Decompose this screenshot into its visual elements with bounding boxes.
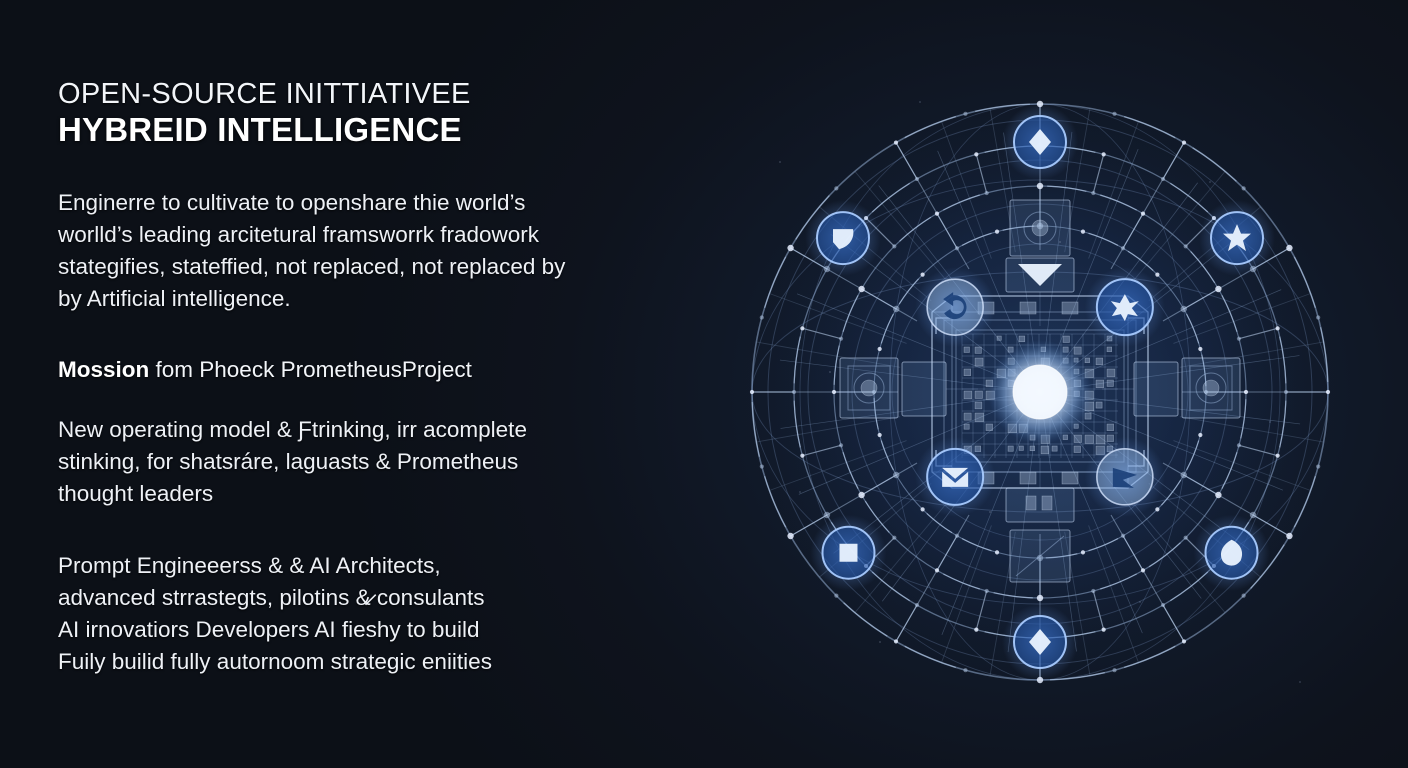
node-badge-chip-lower-left[interactable] [810,515,886,591]
mission-heading-strong: Mossion [58,357,149,382]
core-badge-burst-upper-right[interactable] [1085,267,1165,347]
poster-canvas: OPEN-SOURCE INITTIATIVEE HYBREID INTELLI… [0,0,1408,768]
eyebrow-label: OPEN-SOURCE INITTIATIVEE [58,78,658,110]
audience-line-2: advanced strrastegts, pilotins &̷ consul… [58,582,658,614]
audience-line-1: Prompt Engineeerss & & AI Architects, [58,550,658,582]
mission-heading: Mossion fom Phoeck PrometheusProject [58,355,658,384]
audience-paragraph: Prompt Engineeerss & & AI Architects, ad… [58,550,658,678]
intro-line-2: worlld’s leading arcitetural framsworrk … [58,219,658,251]
intro-line-1: Enginerre to cultivate to openshare thie… [58,187,658,219]
chip-icon [839,544,857,562]
envelope-icon [942,468,968,487]
model-line-3: thought leaders [58,478,658,510]
mission-heading-rest: fom Phoeck PrometheusProject [149,357,472,382]
node-badge-diamond-bottom[interactable] [1002,604,1078,680]
core-badge-refresh-upper-left[interactable] [915,267,995,347]
node-badge-diamond-top[interactable] [1002,104,1078,180]
intro-paragraph: Enginerre to cultivate to openshare thie… [58,187,658,315]
intro-line-3: stategifies, stateffied, not replaced, n… [58,251,658,283]
hybrid-intelligence-network-diagram [740,42,1340,742]
page-title: HYBREID INTELLIGENCE [58,112,658,149]
model-line-1: New operating model & Ƒtrinking, irr aco… [58,414,658,446]
intro-line-4: by Artificial intelligence. [58,283,658,315]
model-line-2: stinking, for shatsráre, laguasts & Prom… [58,446,658,478]
node-badge-leaf-lower-right[interactable] [1194,515,1270,591]
core-badge-arrow-lower-right[interactable] [1085,437,1165,517]
left-text-column: OPEN-SOURCE INITTIATIVEE HYBREID INTELLI… [58,78,658,678]
node-badge-wing-upper-left[interactable] [805,200,881,276]
audience-line-3: AI irnovatiors Developers AI fieshy to b… [58,614,658,646]
core-badge-envelope-lower-left[interactable] [915,437,995,517]
audience-line-4: Fuily builid fully autornoom strategic e… [58,646,658,678]
model-paragraph: New operating model & Ƒtrinking, irr aco… [58,414,658,510]
node-badge-star-upper-right[interactable] [1199,200,1275,276]
glowing-core-sphere [988,340,1092,444]
